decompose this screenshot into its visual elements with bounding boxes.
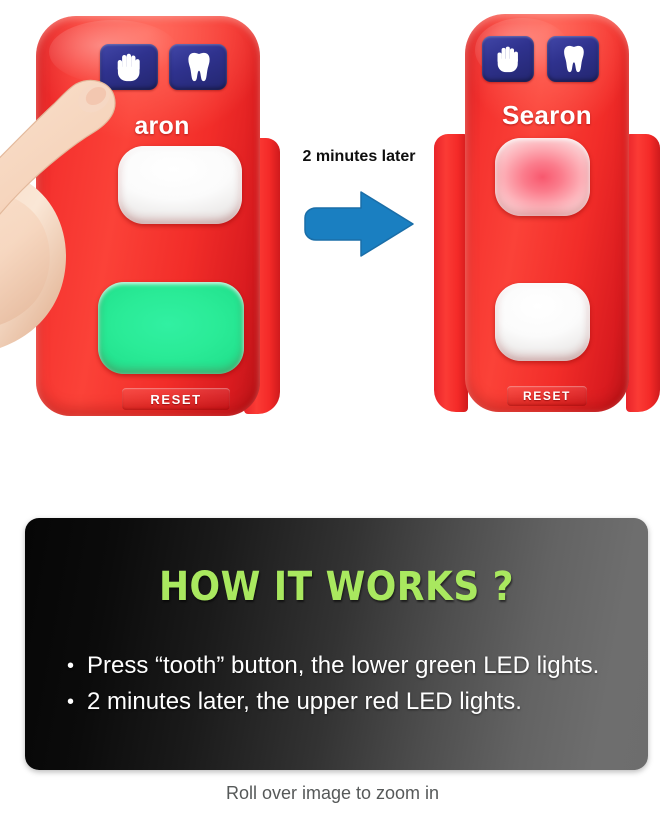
reset-button[interactable]: RESET: [507, 386, 587, 406]
hand-icon: [495, 45, 521, 73]
product-image[interactable]: aron RESET: [0, 0, 665, 500]
reset-label: RESET: [150, 392, 201, 407]
list-item: Press “tooth” button, the lower green LE…: [65, 648, 648, 684]
transition-label: 2 minutes later: [290, 148, 428, 166]
hand-button[interactable]: [482, 36, 534, 82]
device-clip-right: [626, 134, 660, 412]
device-clip-left: [434, 134, 468, 412]
brand-wordmark: aron: [82, 112, 242, 141]
lower-led-indicator: [98, 282, 244, 374]
transition-indicator: 2 minutes later: [290, 148, 428, 258]
brand-wordmark: Searon: [470, 100, 624, 131]
how-it-works-banner: HOW IT WORKS ? Press “tooth” button, the…: [25, 518, 648, 770]
lower-led-indicator: [495, 283, 590, 361]
timer-device-after: Searon RESET: [432, 8, 662, 428]
upper-led-indicator: [495, 138, 590, 216]
reset-button[interactable]: RESET: [122, 388, 230, 410]
tooth-button[interactable]: [169, 44, 227, 90]
upper-led-indicator: [118, 146, 242, 224]
hand-button[interactable]: [100, 44, 158, 90]
how-it-works-title: HOW IT WORKS ?: [56, 564, 617, 610]
hand-icon: [115, 52, 143, 82]
tooth-button[interactable]: [547, 36, 599, 82]
tooth-icon: [560, 45, 586, 73]
list-item: 2 minutes later, the upper red LED light…: [65, 684, 648, 720]
timer-device-before: aron RESET: [22, 10, 292, 430]
tooth-icon: [184, 52, 212, 82]
reset-label: RESET: [523, 389, 571, 403]
arrow-right-icon: [303, 190, 415, 258]
how-it-works-list: Press “tooth” button, the lower green LE…: [65, 648, 648, 720]
zoom-hint-caption: Roll over image to zoom in: [0, 783, 665, 804]
